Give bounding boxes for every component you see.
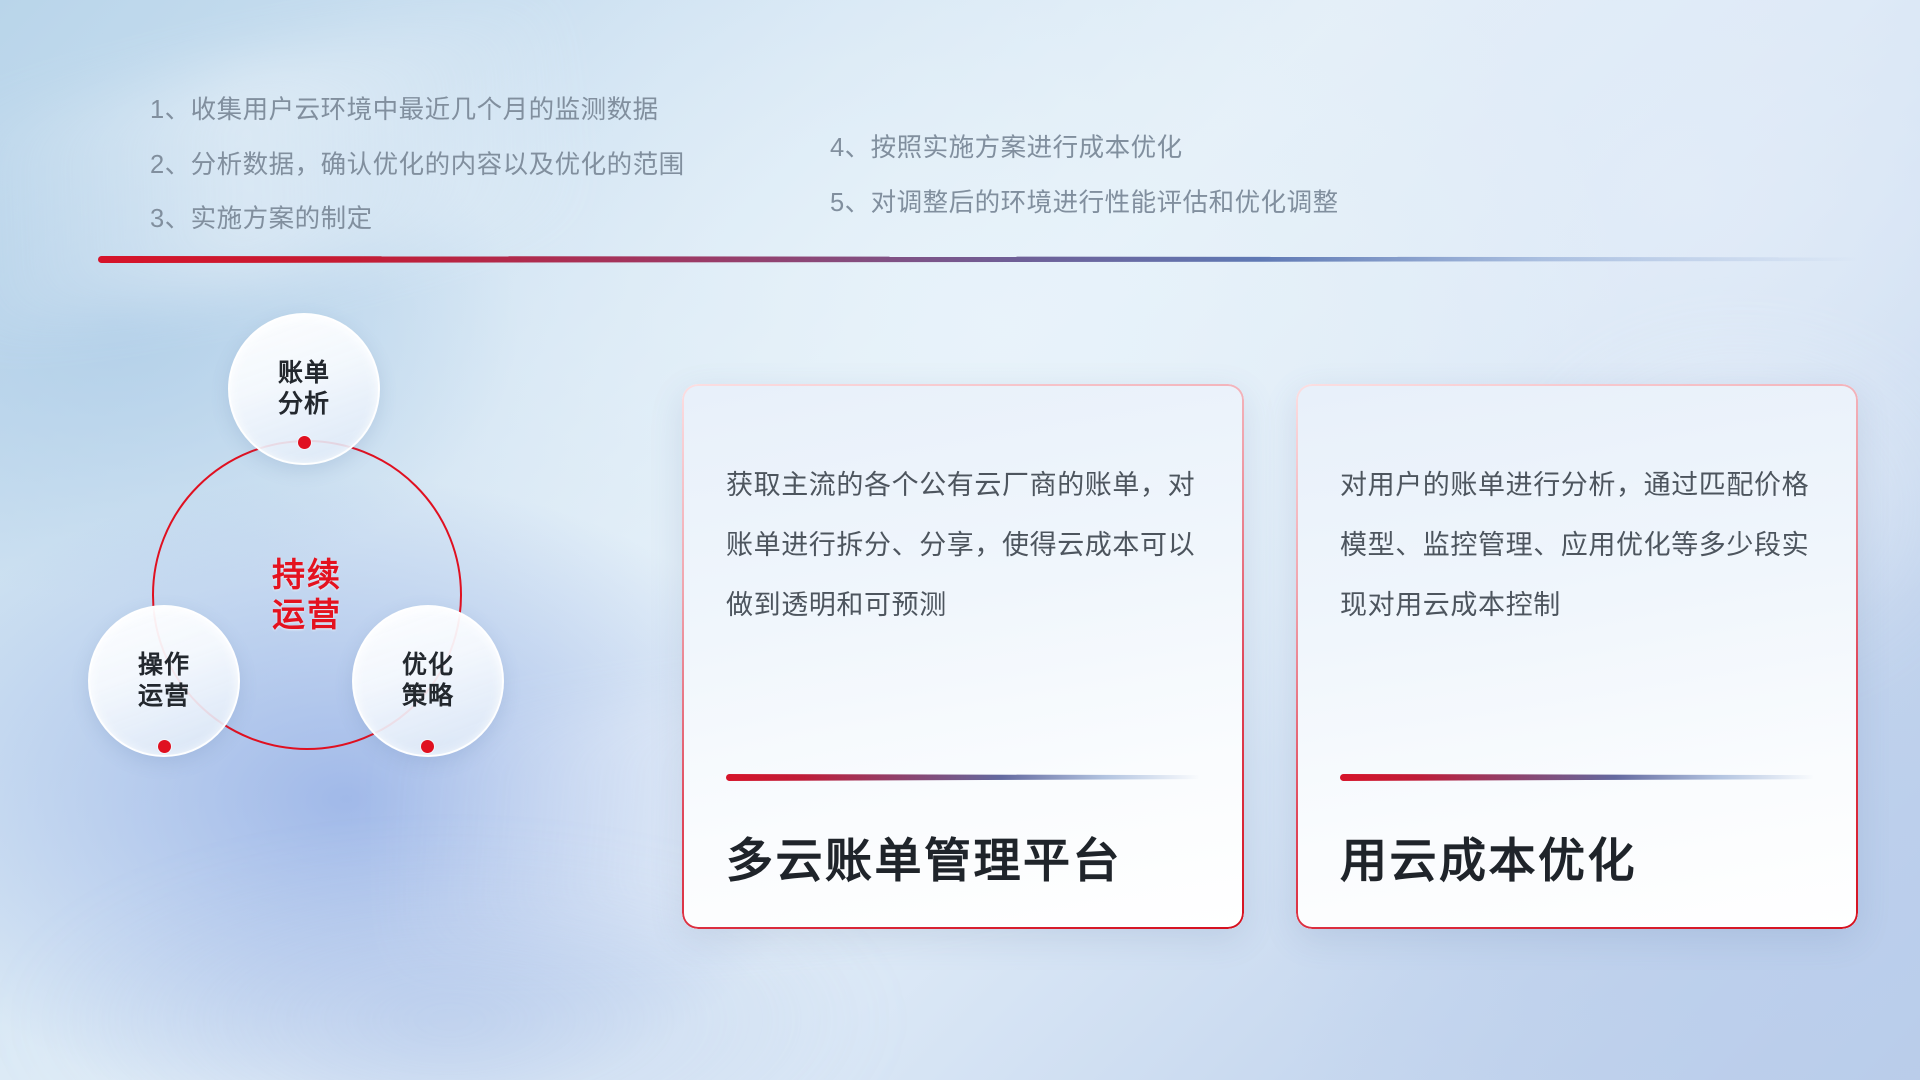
venn-bubble-operation-ops[interactable]: 操作 运营: [88, 605, 240, 757]
feature-card-multi-cloud-billing[interactable]: 获取主流的各个公有云厂商的账单，对账单进行拆分、分享，使得云成本可以做到透明和可…: [682, 384, 1244, 929]
process-step-3: 3、实施方案的制定: [150, 207, 830, 233]
section-divider-gradient-bar: [98, 256, 1858, 263]
venn-bubble-optimize-strategy[interactable]: 优化 策略: [352, 605, 504, 757]
process-steps-list: 1、收集用户云环境中最近几个月的监测数据 2、分析数据，确认优化的内容以及优化的…: [150, 98, 1550, 262]
process-step-2: 2、分析数据，确认优化的内容以及优化的范围: [150, 153, 830, 179]
venn-connector-dot-right: [421, 740, 434, 753]
process-step-1: 1、收集用户云环境中最近几个月的监测数据: [150, 98, 830, 124]
feature-card-accent-rule: [726, 774, 1200, 781]
venn-connector-dot-left: [158, 740, 171, 753]
venn-bubble-label: 优化 策略: [402, 650, 454, 713]
feature-card-description: 对用户的账单进行分析，通过匹配价格模型、监控管理、应用优化等多少段实现对用云成本…: [1340, 456, 1814, 636]
process-step-5: 5、对调整后的环境进行性能评估和优化调整: [830, 191, 1530, 217]
feature-card-description: 获取主流的各个公有云厂商的账单，对账单进行拆分、分享，使得云成本可以做到透明和可…: [726, 456, 1200, 636]
venn-connector-dot-top: [298, 436, 311, 449]
continuous-operation-venn-diagram: 持续 运营 账单 分析 操作 运营 优化 策略: [80, 295, 540, 775]
venn-bubble-label: 账单 分析: [278, 358, 330, 421]
process-steps-right-column: 4、按照实施方案进行成本优化 5、对调整后的环境进行性能评估和优化调整: [830, 98, 1530, 262]
process-steps-left-column: 1、收集用户云环境中最近几个月的监测数据 2、分析数据，确认优化的内容以及优化的…: [150, 98, 830, 262]
feature-card-title: 用云成本优化: [1340, 835, 1637, 887]
feature-card-accent-rule: [1340, 774, 1814, 781]
process-step-4: 4、按照实施方案进行成本优化: [830, 136, 1530, 162]
feature-card-cloud-cost-optimization[interactable]: 对用户的账单进行分析，通过匹配价格模型、监控管理、应用优化等多少段实现对用云成本…: [1296, 384, 1858, 929]
venn-bubble-label: 操作 运营: [138, 650, 190, 713]
slide-canvas: 1、收集用户云环境中最近几个月的监测数据 2、分析数据，确认优化的内容以及优化的…: [0, 0, 1920, 1080]
feature-card-group: 获取主流的各个公有云厂商的账单，对账单进行拆分、分享，使得云成本可以做到透明和可…: [682, 384, 1858, 929]
feature-card-title: 多云账单管理平台: [726, 835, 1122, 887]
